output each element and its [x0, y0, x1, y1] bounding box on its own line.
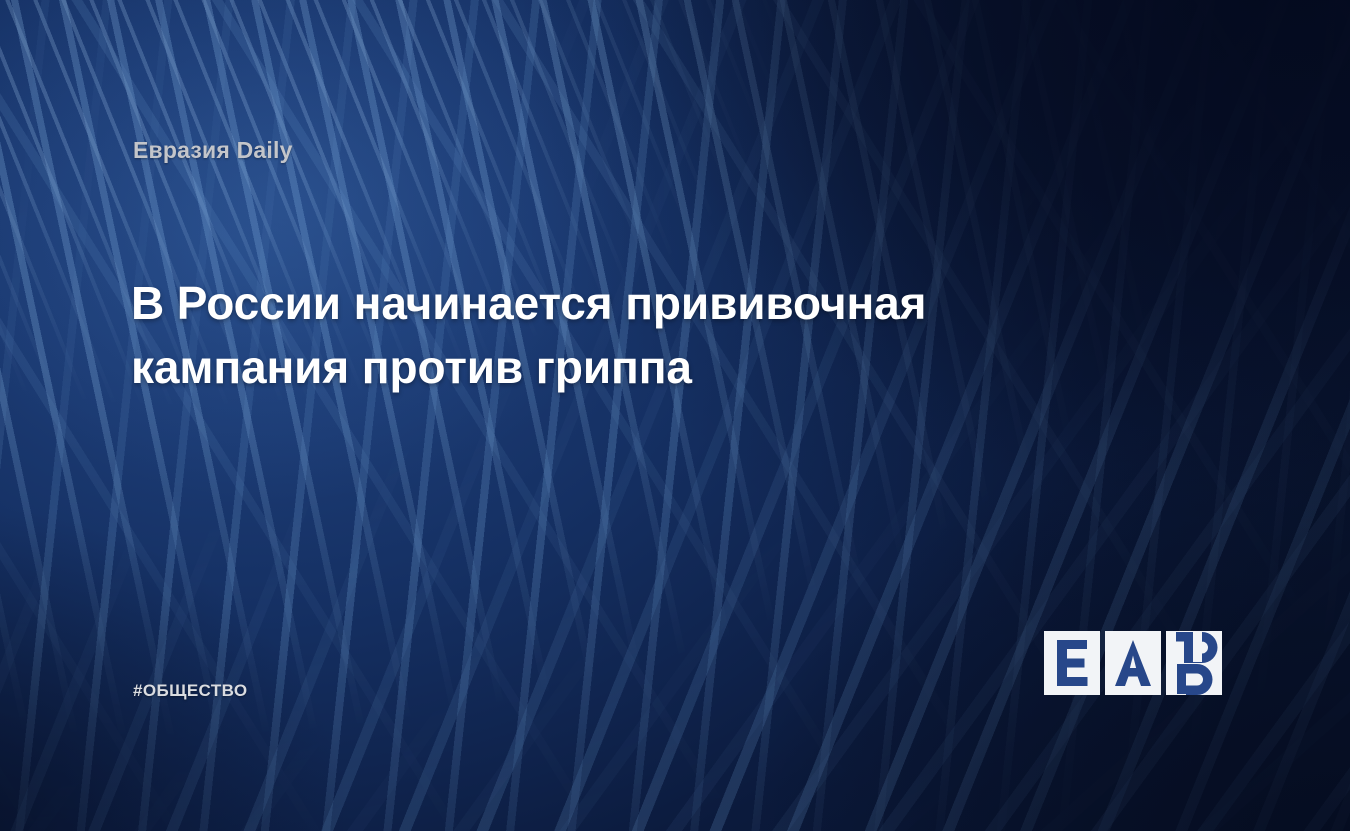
- card-content: Евразия Daily В России начинается привив…: [0, 0, 1350, 831]
- logo-tile-d: [1166, 631, 1222, 695]
- logo-letter-a-icon: [1105, 631, 1161, 695]
- logo-tile-e: [1044, 631, 1100, 695]
- brand-name: Евразия Daily: [133, 137, 293, 164]
- news-share-card: Евразия Daily В России начинается привив…: [0, 0, 1350, 831]
- article-headline: В России начинается прививочная кампания…: [131, 272, 1091, 400]
- ead-logo[interactable]: [1044, 631, 1224, 695]
- category-tag[interactable]: #ОБЩЕСТВО: [133, 681, 247, 701]
- logo-tile-a: [1105, 631, 1161, 695]
- logo-letter-d-icon: [1166, 631, 1222, 695]
- logo-letter-e-icon: [1044, 631, 1100, 695]
